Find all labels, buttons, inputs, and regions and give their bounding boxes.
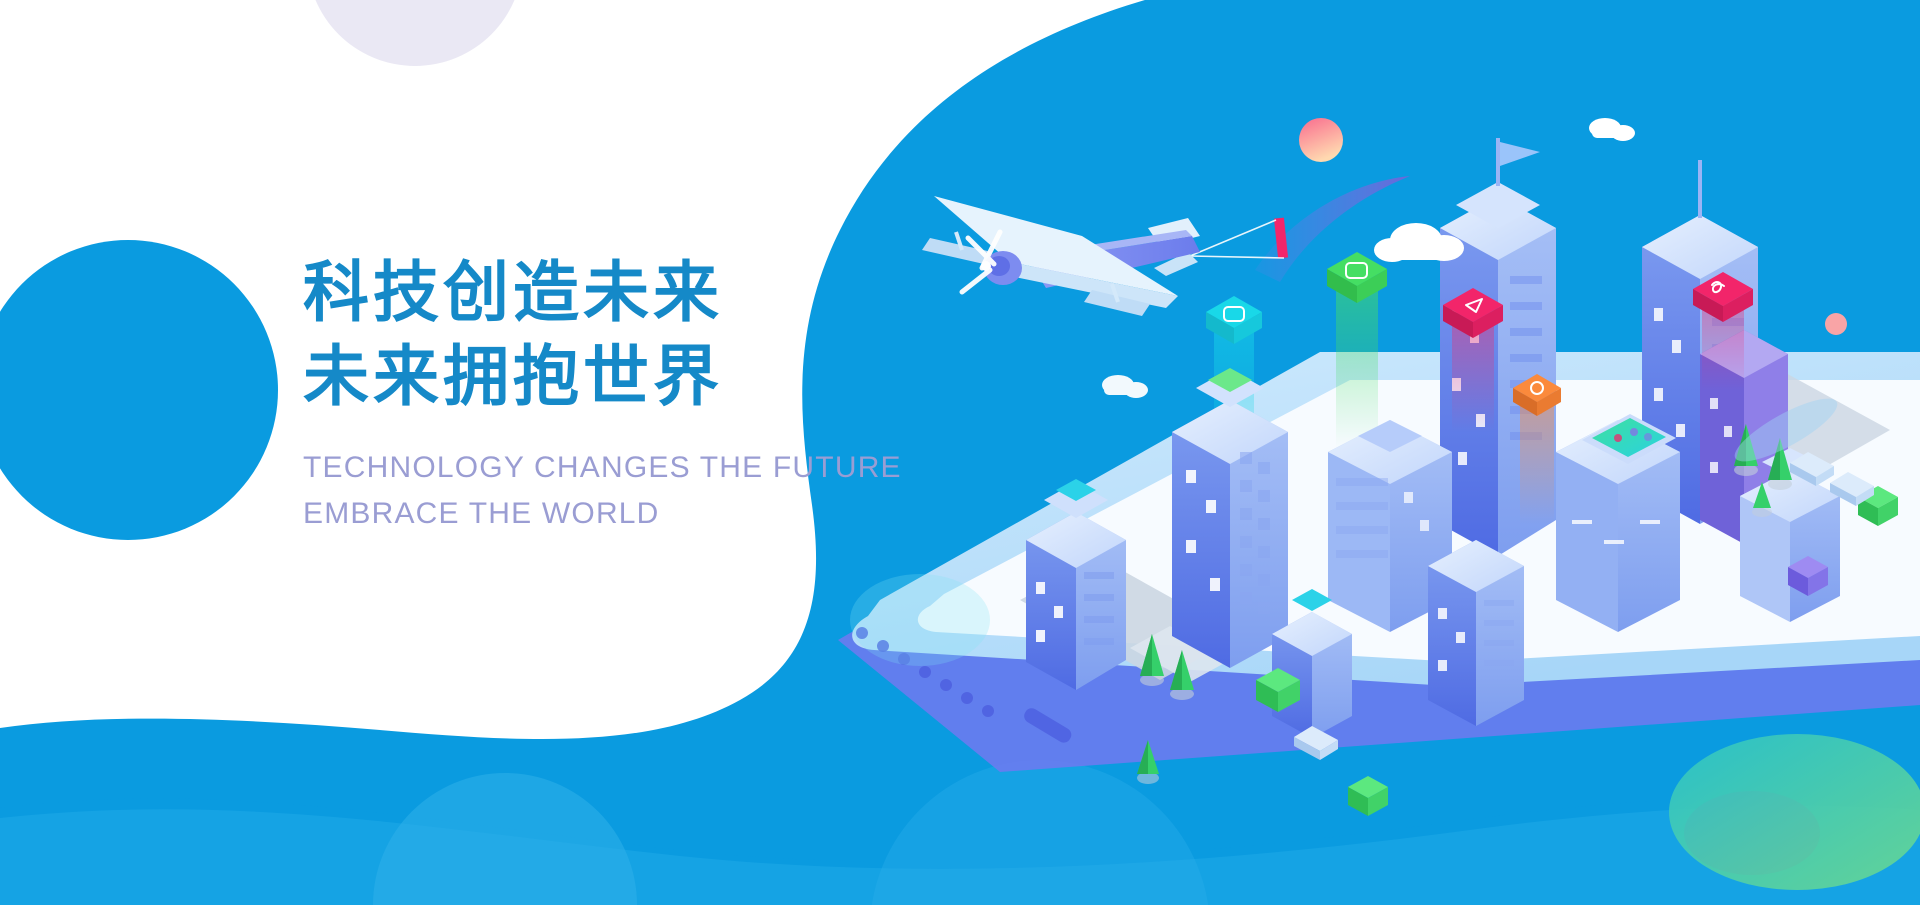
green-cube	[1348, 776, 1388, 816]
building-right-front	[1428, 540, 1524, 726]
cloud	[1102, 375, 1148, 398]
subtitle-line-1: TECHNOLOGY CHANGES THE FUTURE	[303, 445, 923, 492]
isometric-city-illustration	[0, 0, 1920, 905]
beacon-pink-send	[1443, 288, 1503, 432]
beacon-magenta-phone	[1693, 272, 1753, 390]
beacon-green-message	[1327, 252, 1387, 448]
beacon-orange-camera	[1513, 374, 1561, 524]
hero-banner: 科技创造未来 未来拥抱世界 TECHNOLOGY CHANGES THE FUT…	[0, 0, 1920, 905]
building-rooftop-pool	[1556, 414, 1680, 632]
headline-line-1: 科技创造未来	[303, 250, 923, 334]
subtitle-line-2: EMBRACE THE WORLD	[303, 491, 923, 538]
cloud	[1589, 118, 1635, 141]
headline-line-2: 未来拥抱世界	[303, 334, 923, 418]
phone-glow	[850, 574, 990, 666]
copy-block: 科技创造未来 未来拥抱世界 TECHNOLOGY CHANGES THE FUT…	[303, 250, 923, 538]
